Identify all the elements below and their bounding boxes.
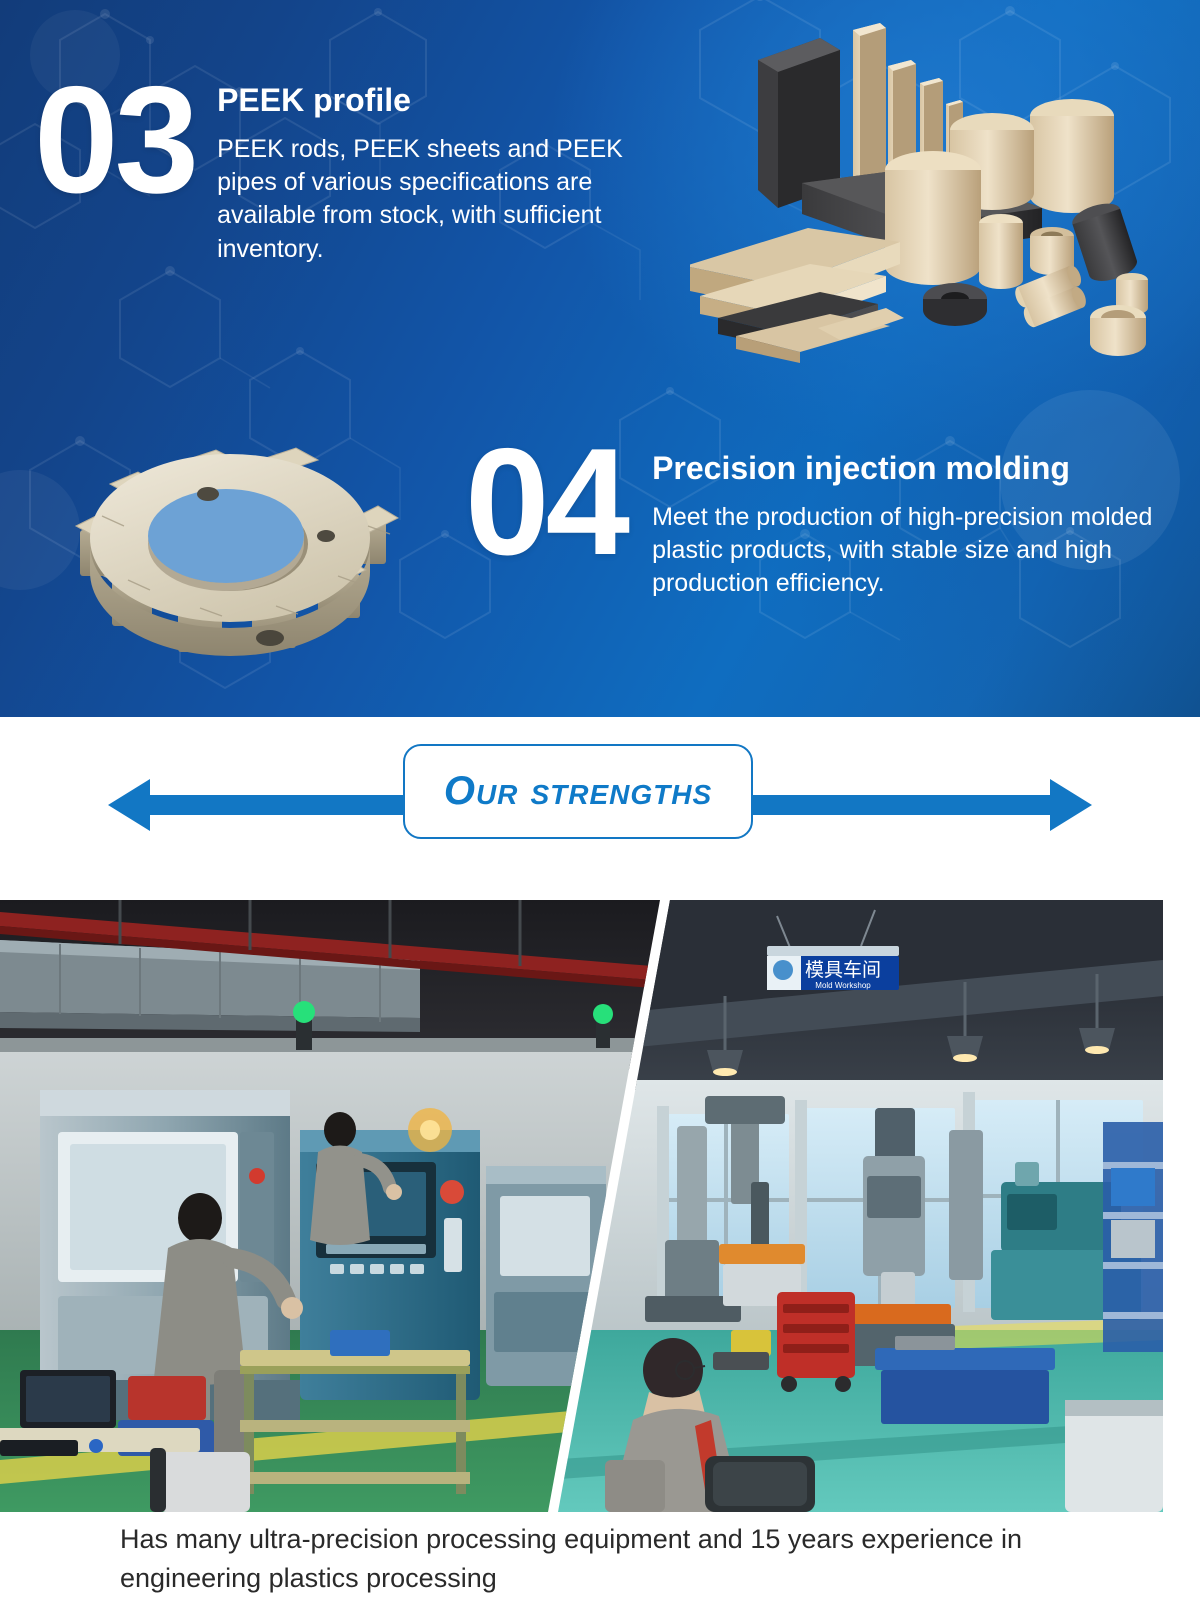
feature-body: Meet the production of high-precision mo… (652, 501, 1172, 601)
svg-text:Mold Workshop: Mold Workshop (815, 981, 871, 990)
workshop-photo-pair: 模具车间 Mold Workshop (0, 900, 1163, 1512)
feature-number: 03 (34, 70, 195, 211)
our-strengths-badge: Our strengths (403, 744, 753, 839)
bottom-caption: Has many ultra-precision processing equi… (0, 1520, 1200, 1598)
feature-title: Precision injection molding (652, 450, 1172, 487)
product-feature-page: 03 PEEK profile PEEK rods, PEEK sheets a… (0, 0, 1200, 1616)
peek-gear-ring-image (30, 398, 430, 693)
svg-text:模具车间: 模具车间 (805, 959, 881, 981)
feature-number: 04 (465, 432, 626, 573)
our-strengths-label: Our strengths (444, 769, 712, 814)
hero-section: 03 PEEK profile PEEK rods, PEEK sheets a… (0, 0, 1200, 717)
feature-title: PEEK profile (217, 82, 647, 119)
peek-stock-shapes-image (690, 18, 1180, 363)
feature-block-04: 04 Precision injection molding Meet the … (465, 432, 1172, 601)
feature-body: PEEK rods, PEEK sheets and PEEK pipes of… (217, 133, 647, 266)
feature-block-03: 03 PEEK profile PEEK rods, PEEK sheets a… (34, 70, 647, 266)
